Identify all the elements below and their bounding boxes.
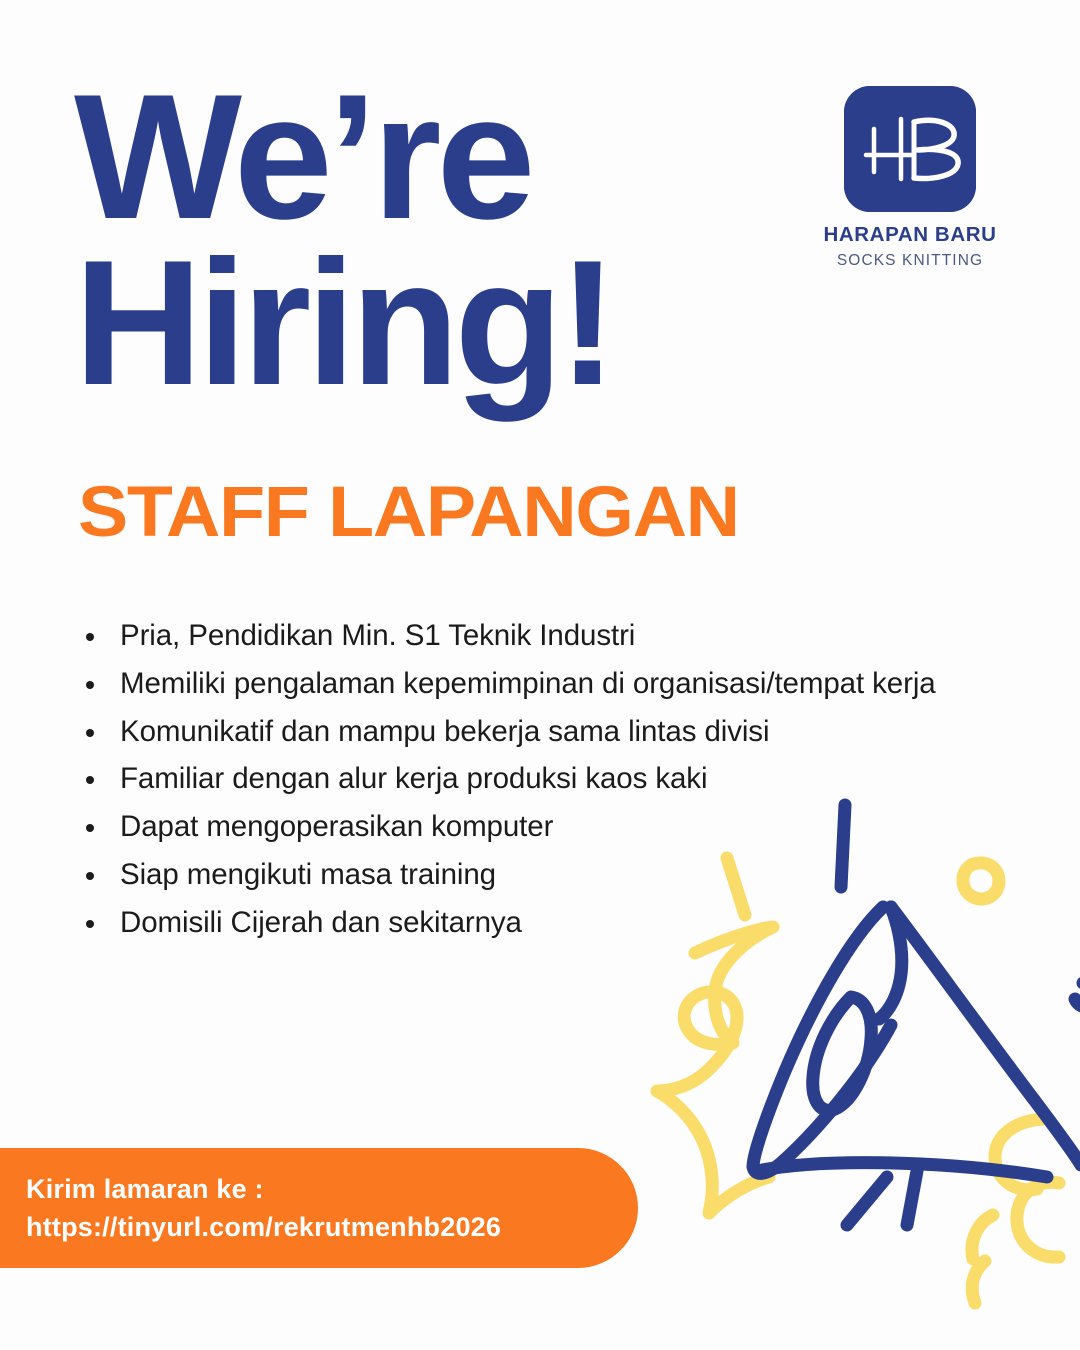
- requirements-list: Pria, Pendidikan Min. S1 Teknik Industri…: [78, 612, 1008, 946]
- list-item: Komunikatif dan mampu bekerja sama linta…: [78, 708, 1008, 756]
- list-item: Dapat mengoperasikan komputer: [78, 803, 1008, 851]
- page-title: We’re Hiring!: [74, 74, 794, 405]
- list-item: Memiliki pengalaman kepemimpinan di orga…: [78, 660, 1008, 708]
- list-item: Siap mengikuti masa training: [78, 851, 1008, 899]
- list-item: Domisili Cijerah dan sekitarnya: [78, 899, 1008, 947]
- application-link[interactable]: https://tinyurl.com/rekrutmenhb2026: [26, 1208, 638, 1246]
- headline-line-2: Hiring!: [74, 240, 794, 406]
- position-title: STAFF LAPANGAN: [78, 477, 739, 548]
- list-item: Familiar dengan alur kerja produksi kaos…: [78, 755, 1008, 803]
- hb-monogram-icon: [844, 86, 976, 212]
- headline-line-1: We’re: [74, 74, 794, 240]
- hiring-poster: HARAPAN BARU SOCKS KNITTING We’re Hiring…: [0, 0, 1080, 1350]
- brand-logo-block: HARAPAN BARU SOCKS KNITTING: [812, 86, 1008, 268]
- apply-cta-banner[interactable]: Kirim lamaran ke : https://tinyurl.com/r…: [0, 1148, 638, 1268]
- cta-label: Kirim lamaran ke :: [26, 1170, 638, 1208]
- company-tagline: SOCKS KNITTING: [837, 253, 983, 269]
- company-name: HARAPAN BARU: [823, 225, 996, 246]
- list-item: Pria, Pendidikan Min. S1 Teknik Industri: [78, 612, 1008, 660]
